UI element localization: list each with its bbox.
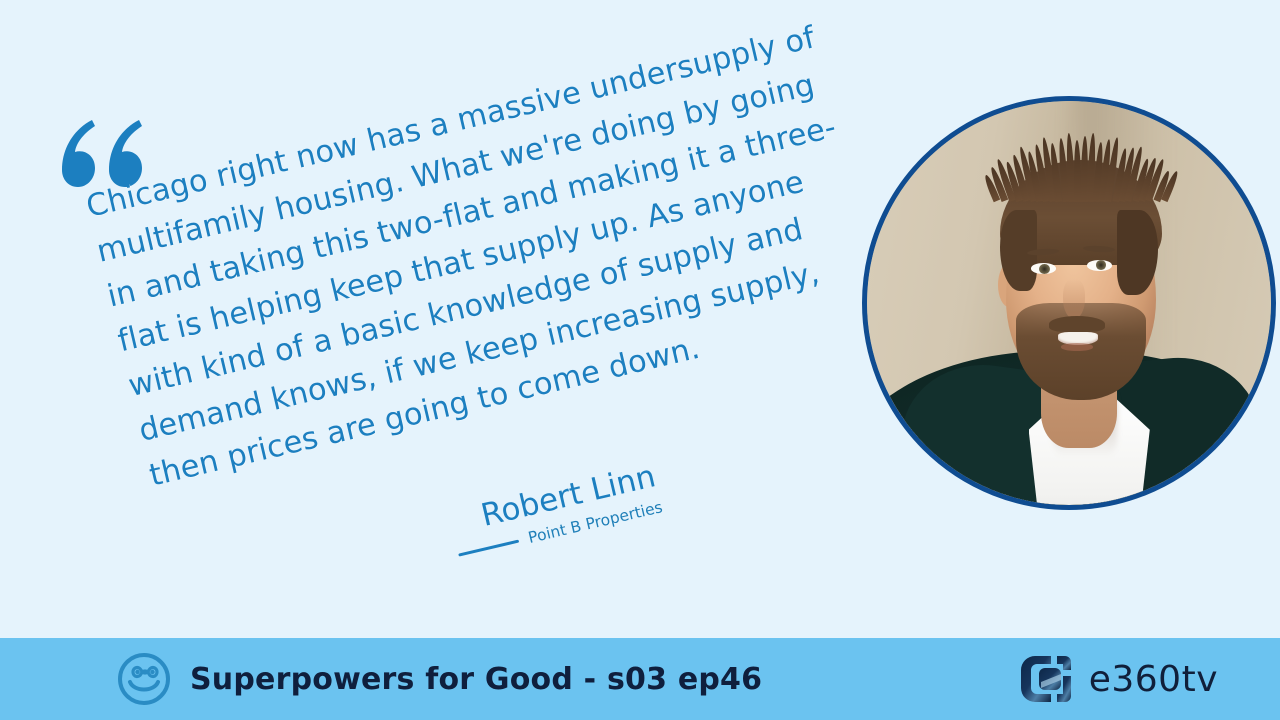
network-name: e360tv bbox=[1089, 659, 1218, 700]
portrait-avatar bbox=[862, 96, 1276, 510]
e360tv-mark-icon bbox=[1017, 650, 1075, 708]
quote-block: Chicago right now has a massive undersup… bbox=[82, 12, 895, 499]
attribution-dash bbox=[458, 539, 519, 556]
quote-card: Chicago right now has a massive undersup… bbox=[0, 0, 1280, 720]
portrait-image bbox=[867, 101, 1271, 505]
portrait-mustache bbox=[1049, 316, 1106, 332]
bottom-banner: Superpowers for Good - s03 ep46 bbox=[0, 638, 1280, 720]
episode-title: Superpowers for Good - s03 ep46 bbox=[190, 662, 762, 697]
show-branding: Superpowers for Good - s03 ep46 bbox=[116, 651, 762, 707]
card-canvas: Chicago right now has a massive undersup… bbox=[0, 0, 1280, 638]
superpowers-smiley-icon bbox=[116, 651, 172, 707]
network-branding: e360tv bbox=[1017, 650, 1218, 708]
portrait-nose bbox=[1063, 279, 1085, 319]
portrait-lower-lip bbox=[1061, 343, 1093, 350]
portrait-eye-right bbox=[1087, 260, 1112, 271]
portrait-hair-spikes bbox=[988, 137, 1174, 202]
portrait-eye-left bbox=[1031, 263, 1056, 274]
attribution: Robert Linn Point B Properties bbox=[447, 458, 664, 564]
quote-text: Chicago right now has a massive undersup… bbox=[82, 12, 895, 499]
